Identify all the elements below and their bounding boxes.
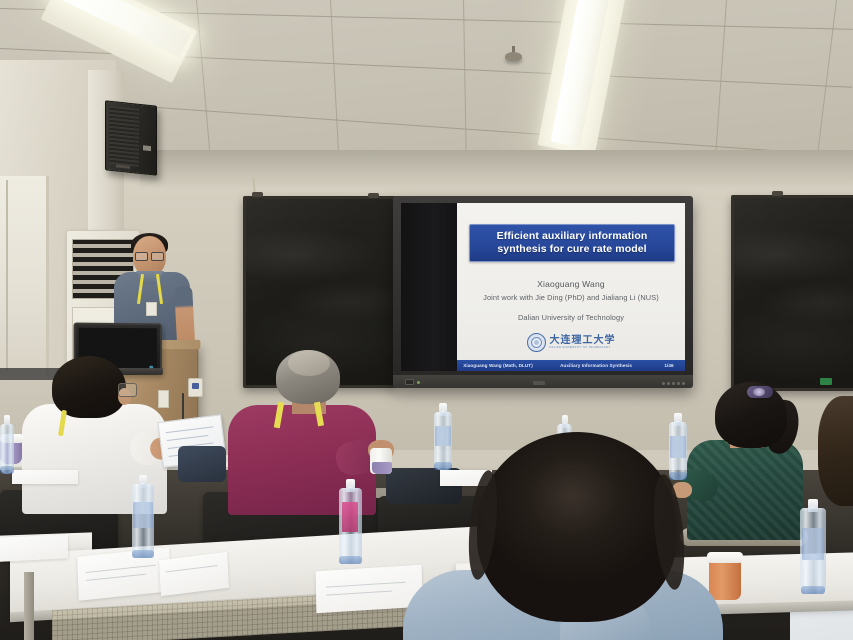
slide-author: Xiaoguang Wang: [457, 279, 685, 289]
presentation-display[interactable]: Efficient auxiliary information synthesi…: [393, 196, 693, 388]
exit-sign-icon: [820, 378, 832, 385]
speaker-badge: [143, 145, 151, 151]
wall-shadow: [140, 150, 853, 190]
wall-socket[interactable]: [188, 378, 203, 397]
display-brand-logo: [533, 381, 545, 385]
blackboard-right: [731, 195, 853, 391]
paper-sheet-3: [316, 565, 423, 614]
water-bottle-6: [800, 508, 826, 594]
bottle-label: [435, 426, 451, 446]
display-panel: Efficient auxiliary information synthesi…: [401, 203, 685, 371]
orange-cup-rim: [707, 552, 743, 563]
water-bottle-3: [434, 412, 452, 470]
presenter-badge: [146, 302, 157, 316]
attendee-far-right-head: [818, 396, 853, 506]
slide-affiliation: Dalian University of Technology: [457, 313, 685, 322]
board-clip-left: [252, 192, 263, 197]
bottle-label: [133, 502, 152, 528]
attendee-white-shirt-head: [52, 356, 126, 418]
display-status-led: [417, 381, 420, 384]
slide-footer-page: 1/46: [653, 363, 685, 368]
water-bottle-2: [339, 488, 362, 564]
logo-english-name: DALIAN UNIVERSITY OF TECHNOLOGY: [550, 346, 616, 350]
lectern-name-card: [158, 390, 169, 408]
slide-letterbox: [401, 203, 457, 371]
attendee-blue-head: [477, 432, 677, 622]
speaker-foot: [116, 164, 130, 168]
slide-title: Efficient auxiliary information synthesi…: [470, 230, 674, 256]
water-bottle-7: [0, 424, 14, 474]
bottle-base: [339, 556, 361, 564]
chalk-residue-right: [734, 198, 853, 388]
attendee-magenta-scalp: [288, 350, 330, 376]
hair-clip-icon: [747, 386, 773, 398]
university-logo: 大连理工大学 DALIAN UNIVERSITY OF TECHNOLOGY: [457, 331, 685, 353]
logo-chinese-name: 大连理工大学: [550, 335, 616, 346]
display-button-row[interactable]: [662, 382, 685, 385]
bottle-base: [434, 462, 451, 470]
slide-joint-work: Joint work with Jie Ding (PhD) and Jiali…: [457, 293, 685, 302]
paper-sheet-4: [0, 534, 68, 562]
presenter-glasses-icon: [135, 252, 164, 259]
slide-footer-author: Xiaoguang Wang (Math, DLUT): [457, 363, 539, 368]
bottle-label: [670, 436, 686, 458]
water-bottle-1: [132, 484, 154, 558]
board-clip-right: [772, 191, 783, 196]
water-bottle-5: [669, 422, 687, 480]
board-clip-left-2: [368, 193, 379, 198]
bottle-base: [801, 586, 826, 594]
slide-footer: Xiaoguang Wang (Math, DLUT) Auxiliary In…: [457, 360, 685, 371]
slide-content: Efficient auxiliary information synthesi…: [457, 203, 685, 371]
paper-sheet-6: [12, 470, 78, 484]
speaker-grille-icon: [109, 106, 139, 167]
slide-title-bar: Efficient auxiliary information synthesi…: [469, 224, 675, 262]
bottle-base: [0, 466, 13, 474]
bottle-base: [132, 550, 153, 558]
slide-footer-title: Auxiliary Information Synthesis: [539, 363, 653, 368]
attendee-white-shirt-glasses-icon: [118, 383, 137, 397]
front-table-leg: [24, 572, 34, 640]
bottle-base: [669, 472, 686, 480]
bottle-label: [802, 528, 825, 560]
bottle-label-brand: [342, 502, 358, 532]
display-bezel: [393, 375, 693, 388]
wall-speaker: [105, 100, 157, 175]
window-frame: [6, 180, 8, 370]
university-seal-icon: [527, 333, 546, 352]
purple-cup-back: [372, 462, 392, 474]
lecture-hall-photo: Efficient auxiliary information synthesi…: [0, 0, 853, 640]
ceiling-sensor-icon: [505, 52, 522, 61]
display-power-button[interactable]: [405, 379, 414, 385]
laptop-bag-left: [178, 446, 226, 482]
